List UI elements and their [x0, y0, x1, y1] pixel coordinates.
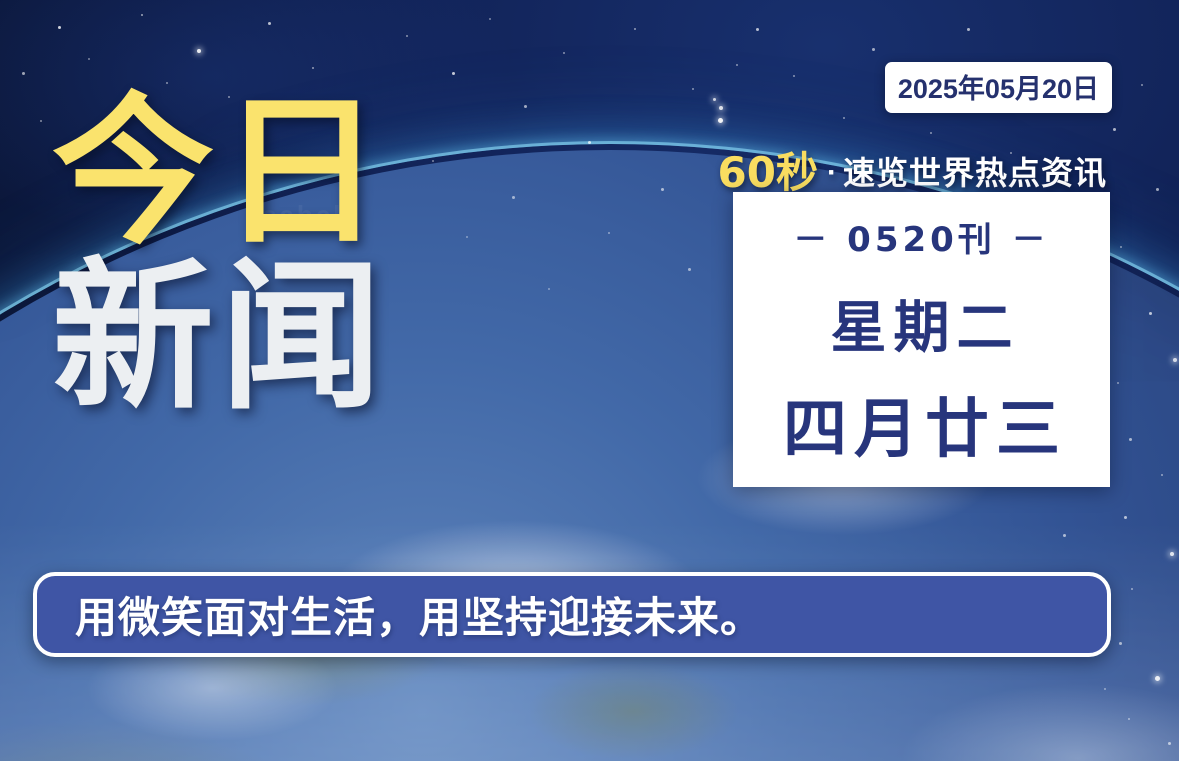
card-weekday: 星期二	[824, 283, 1020, 364]
card-issue-number: － 0520刊 －	[793, 212, 1049, 261]
tagline-text: 速览世界热点资讯	[843, 155, 1107, 191]
tagline: 60秒·速览世界热点资讯	[718, 139, 1107, 200]
poster-canvas: sabcb 今日 新闻 2025年05月20日 60秒·速览世界热点资讯 － 0…	[0, 0, 1179, 761]
title-line-xinwen: 新闻	[52, 263, 388, 414]
date-info-card: － 0520刊 － 星期二 四月廿三	[733, 192, 1110, 487]
card-lunar-date: 四月廿三	[776, 378, 1067, 470]
tagline-seconds: 60秒	[718, 148, 818, 197]
date-badge: 2025年05月20日	[885, 62, 1112, 113]
quote-banner: 用微笑面对生活，用坚持迎接未来。	[33, 572, 1111, 657]
tagline-separator: ·	[818, 156, 843, 189]
title-line-jinri: 今日	[52, 98, 388, 249]
quote-text: 用微笑面对生活，用坚持迎接未来。	[37, 584, 763, 645]
page-title: 今日 新闻	[52, 98, 388, 413]
